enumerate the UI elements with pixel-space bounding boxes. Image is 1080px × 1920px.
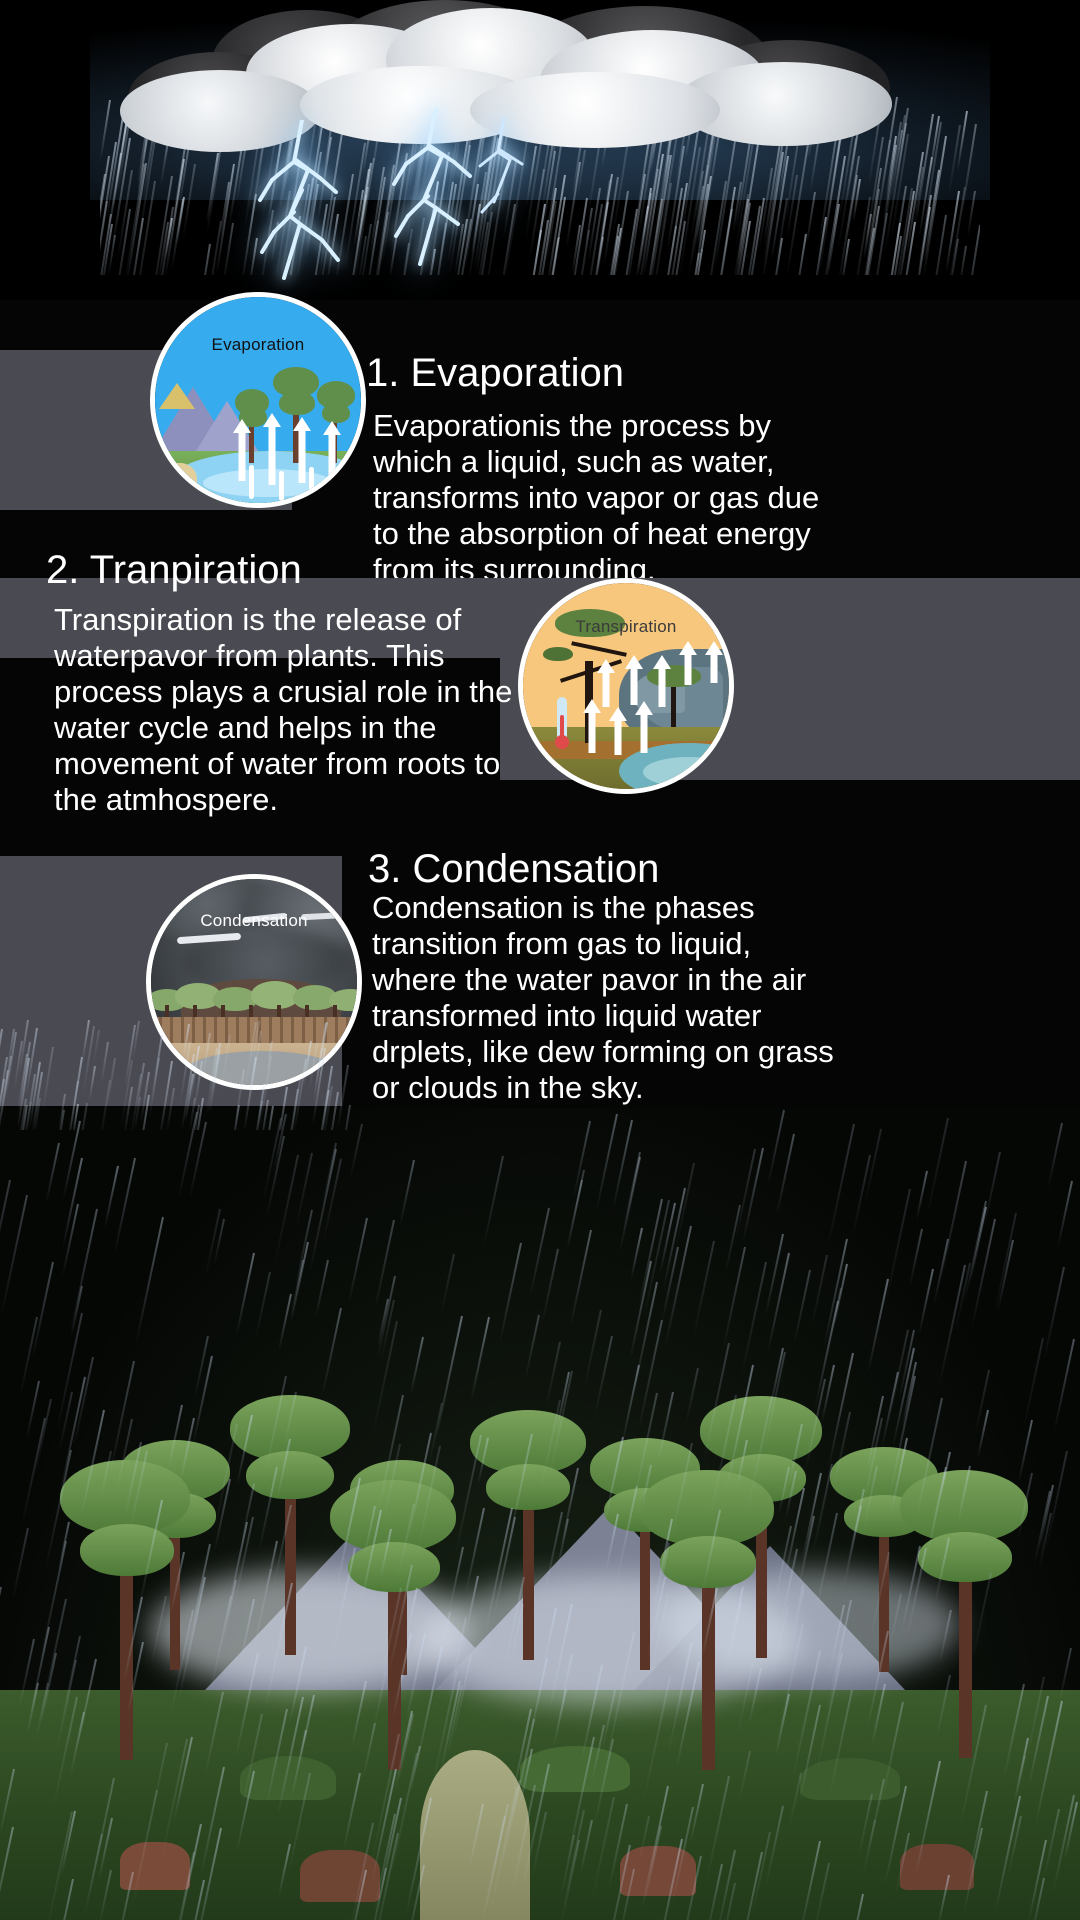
lightning-icon [250, 120, 360, 280]
lake-highlight [643, 757, 734, 787]
falling-rain [0, 1108, 1080, 1920]
vapor-wisp [339, 469, 344, 497]
transpiration-illustration: Transpiration [518, 578, 734, 794]
tree-canopy [322, 403, 350, 423]
section-3-body: Condensation is the phases transition fr… [372, 890, 838, 1106]
arrow-shaft [685, 653, 692, 685]
arrow-shaft [659, 667, 666, 707]
arrow-shaft [603, 671, 610, 707]
vapor-arrow [625, 655, 643, 705]
shore [155, 463, 197, 503]
vapor-arrow [597, 659, 615, 707]
vapor-wisp [249, 465, 254, 499]
vapor-arrow [609, 707, 627, 755]
section-3-heading: 3. Condensation [368, 848, 928, 891]
arrow-shaft [239, 431, 246, 481]
rainy-forest-landscape [0, 1108, 1080, 1920]
tree-branch [571, 641, 627, 657]
vapor-wisp [279, 471, 284, 501]
vapor-wisp [309, 467, 314, 499]
storm-artwork [0, 0, 1080, 300]
section-1-heading: 1. Evaporation [366, 352, 986, 395]
evaporation-illustration: Evaporation [150, 292, 366, 508]
arrow-shaft [641, 713, 648, 753]
arrow-shaft [589, 711, 596, 753]
arrow-shaft [299, 429, 306, 483]
thermometer-mercury [560, 715, 564, 741]
arrow-shaft [615, 719, 622, 755]
tree-canopy [251, 981, 299, 1009]
illustration-caption: Condensation [151, 911, 357, 931]
vapor-arrow [705, 641, 723, 683]
mountain-snow [159, 383, 195, 409]
illustration-caption: Transpiration [523, 617, 729, 637]
arrow-shaft [711, 653, 718, 683]
section-2-body: Transpiration is the release of waterpav… [54, 602, 519, 818]
section-2-heading: 2. Tranpiration [46, 549, 606, 592]
lightning-icon [460, 118, 550, 228]
vapor-arrow [653, 655, 671, 707]
vapor-arrow [635, 701, 653, 753]
arrow-shaft [631, 667, 638, 705]
arrow-head [263, 413, 281, 427]
illustration-caption: Evaporation [155, 335, 361, 355]
side-rain [0, 1020, 360, 1130]
vapor-arrow [679, 641, 697, 685]
arrow-shaft [329, 433, 336, 481]
tree-canopy [279, 391, 315, 415]
tree-canopy [543, 647, 573, 661]
arrow-shaft [269, 427, 276, 485]
vapor-arrow [583, 699, 601, 753]
tree-trunk [671, 687, 676, 727]
